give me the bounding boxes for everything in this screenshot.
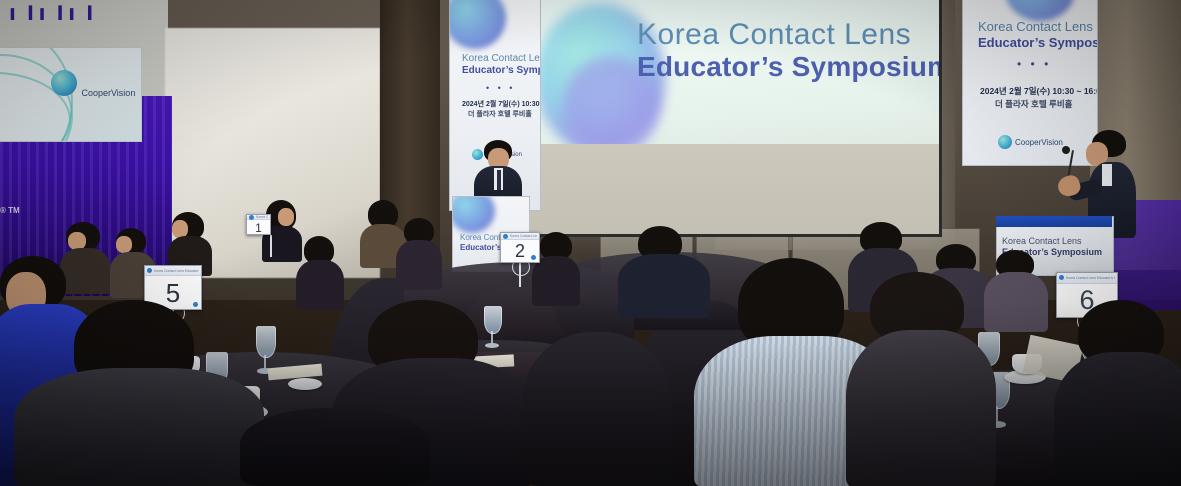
lectern-blue-band xyxy=(996,216,1112,227)
screen-title-line2: Educator’s Symposium xyxy=(637,51,927,83)
sign-caption: Korea Contact Lens Educator’s Symposium xyxy=(1066,276,1115,280)
sign-caption: Korea Contact Lens Educator’s Symposium xyxy=(256,215,268,219)
lectern-title1: Korea Contact Lens xyxy=(1002,236,1082,246)
foreground-attendee xyxy=(846,272,996,486)
korean-headline-text: 니니니 xyxy=(8,0,138,20)
foreground-attendee xyxy=(14,300,264,486)
coopervision-logo: CooperVision xyxy=(51,70,135,101)
banner-right-title2: Educator’s Symposium xyxy=(978,35,1098,50)
coopervision-wordmark: CooperVision xyxy=(81,88,135,98)
microphone-icon xyxy=(1062,146,1070,154)
table-number-sign-1: Korea Contact Lens Educator’s Symposium … xyxy=(246,214,271,235)
banner-sphere-icon xyxy=(1005,0,1075,21)
saucer xyxy=(288,378,322,390)
banner-right-place: 더 플라자 호텔 루비홀 xyxy=(995,98,1072,110)
screen-title-block: Korea Contact Lens Educator’s Symposium xyxy=(637,19,927,83)
chair-back xyxy=(522,332,672,486)
banner-right-title1: Korea Contact Lens xyxy=(978,19,1093,34)
banner-right-date: 2024년 2월 7일(수) 10:30 ~ 16:00 xyxy=(980,85,1098,97)
speaker-tie xyxy=(497,170,501,190)
coopervision-globe-icon xyxy=(51,70,77,96)
banner-left-date: 2024년 2월 7일(수) 10:30 ~ 16:00 xyxy=(462,99,541,109)
foreground-attendee xyxy=(1054,300,1181,486)
banner-left-title1: Korea Contact Lens xyxy=(462,53,541,64)
conference-photo: 니니니 CooperVision ® TM Korea Contact Lens… xyxy=(0,0,1181,486)
sign-number: 1 xyxy=(247,220,270,235)
banner-left-dots: • • • xyxy=(486,83,515,93)
banner-sphere-icon xyxy=(452,196,495,233)
table-number-sign-2: Korea Contact Lens Educator’s Symposium … xyxy=(500,232,540,263)
attendee xyxy=(396,218,442,288)
sign-caption: Korea Contact Lens Educator’s Symposium xyxy=(154,269,199,273)
banner-sphere-icon xyxy=(449,0,506,49)
banner-right-dots: • • • xyxy=(1017,57,1051,71)
banner-right-logo: CooperVision xyxy=(998,135,1063,149)
coopervision-globe-icon xyxy=(998,135,1012,149)
banner-left-place: 더 플라자 호텔 루비홀 xyxy=(468,109,532,119)
coopervision-wordmark: CooperVision xyxy=(1015,138,1063,147)
product-display-panel: CooperVision xyxy=(0,47,142,142)
trademark-mark: ® TM xyxy=(0,206,20,215)
speaker-shirt xyxy=(1102,164,1112,186)
screen-lower-blank-area xyxy=(529,144,939,234)
attendee xyxy=(296,236,344,308)
chair-back xyxy=(240,408,430,486)
screen-title-line1: Korea Contact Lens xyxy=(637,19,927,51)
banner-left-title2: Educator’s Symposium xyxy=(462,65,541,76)
coopervision-dot-icon xyxy=(531,255,536,260)
sign-caption: Korea Contact Lens Educator’s Symposium xyxy=(510,234,537,238)
projection-screen: Korea Contact Lens Educator’s Symposium xyxy=(526,0,942,237)
